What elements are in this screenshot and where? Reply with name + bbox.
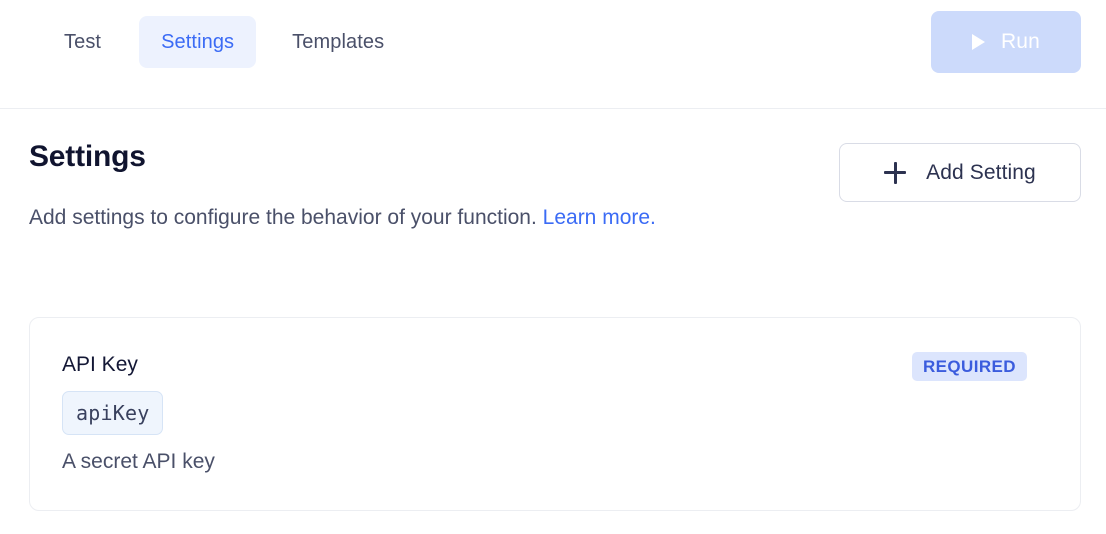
setting-name: API Key: [62, 354, 138, 375]
play-icon: [972, 34, 985, 50]
setting-key-chip: apiKey: [62, 391, 163, 435]
page-description-text: Add settings to configure the behavior o…: [29, 206, 543, 229]
learn-more-link[interactable]: Learn more.: [543, 206, 656, 229]
setting-description: A secret API key: [62, 451, 215, 472]
run-button[interactable]: Run: [931, 11, 1081, 73]
add-setting-button[interactable]: Add Setting: [839, 143, 1081, 202]
tab-settings[interactable]: Settings: [139, 16, 256, 68]
tab-list: Test Settings Templates: [0, 0, 406, 84]
run-button-label: Run: [1001, 30, 1040, 54]
top-tab-bar: Test Settings Templates Run: [0, 0, 1106, 109]
status-badge: REQUIRED: [912, 352, 1027, 381]
add-setting-button-label: Add Setting: [926, 161, 1036, 185]
plus-icon: [884, 162, 906, 184]
page-description: Add settings to configure the behavior o…: [29, 194, 669, 242]
settings-page: Test Settings Templates Run Settings Add…: [0, 0, 1106, 534]
setting-card[interactable]: API Key apiKey A secret API key REQUIRED: [29, 317, 1081, 511]
tab-templates[interactable]: Templates: [270, 16, 406, 68]
page-title: Settings: [29, 142, 146, 172]
page-body: Settings Add settings to configure the b…: [0, 109, 1106, 534]
tab-test[interactable]: Test: [42, 16, 123, 68]
